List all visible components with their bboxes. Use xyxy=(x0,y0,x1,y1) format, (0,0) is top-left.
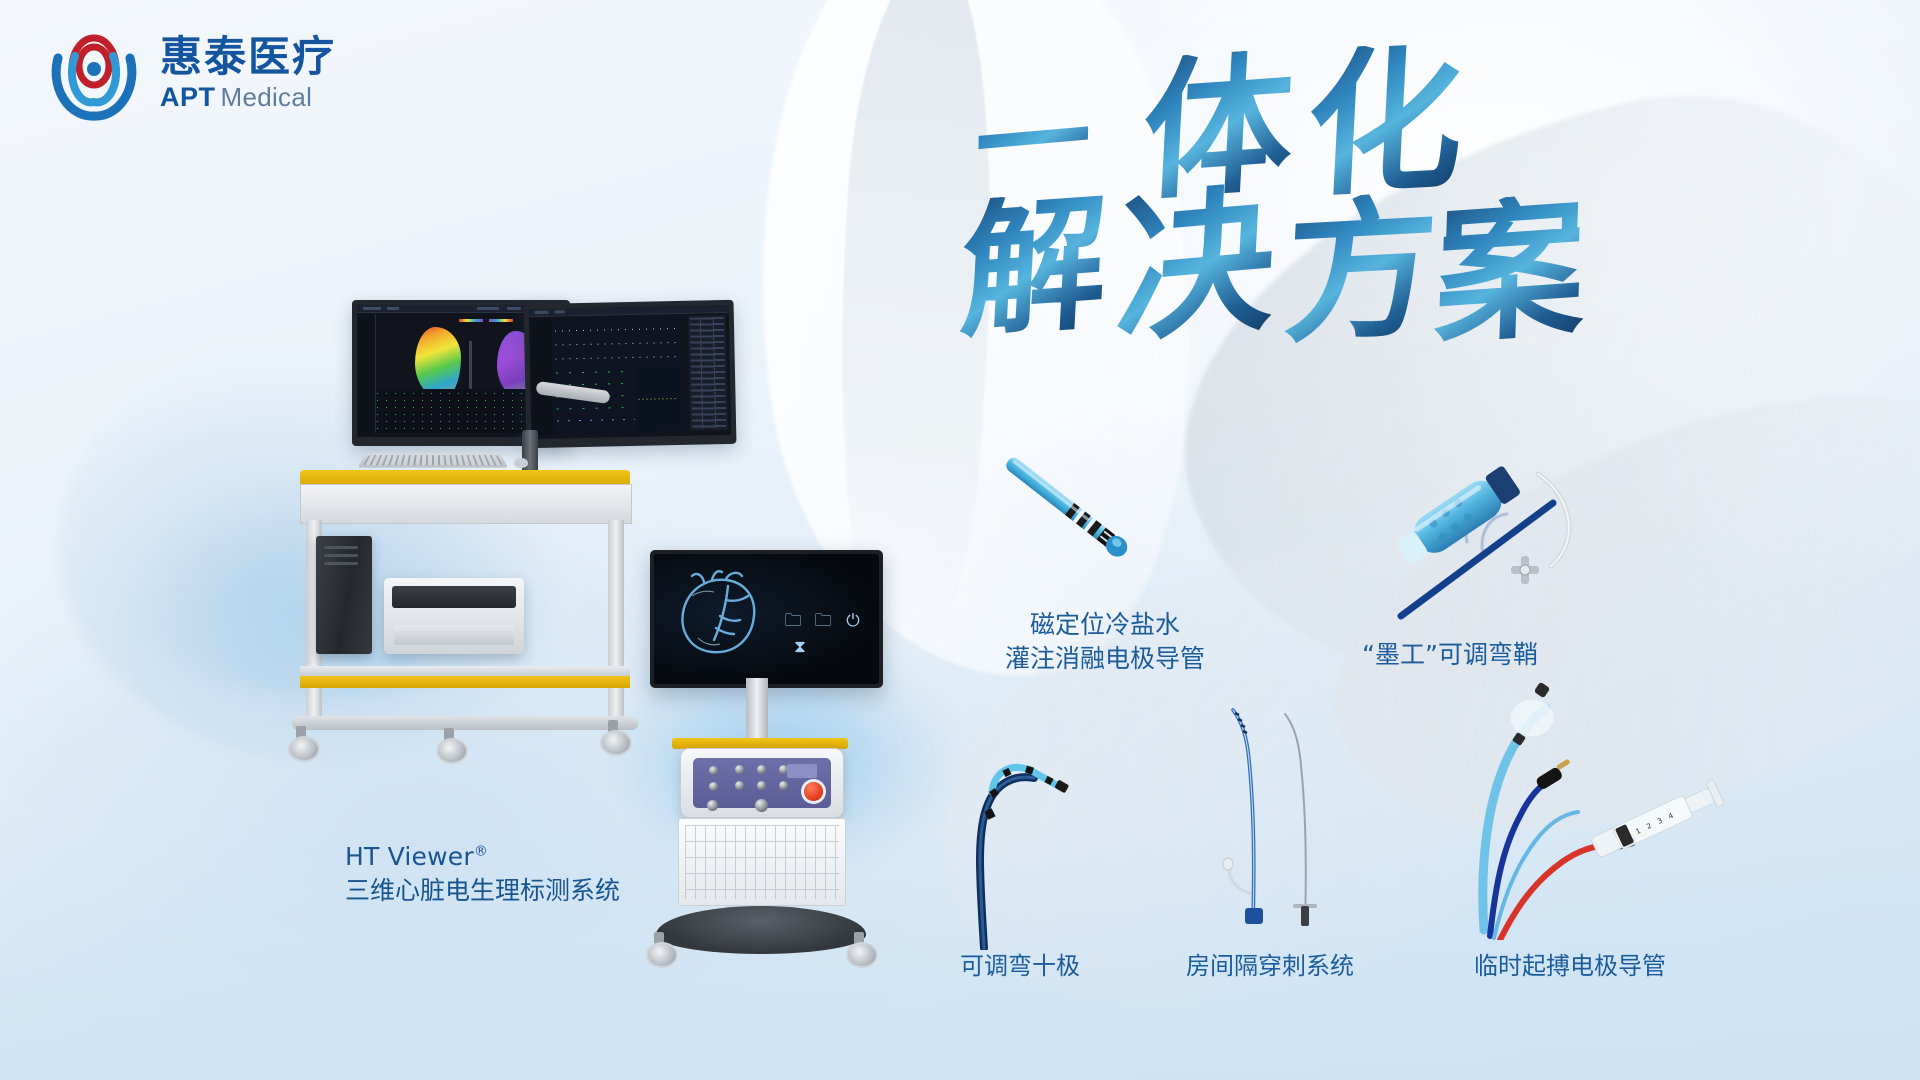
caption-line-2: 灌注消融电极导管 xyxy=(955,642,1255,676)
caption-line-1: 房间隔穿刺系统 xyxy=(1120,950,1420,982)
caster-wheel xyxy=(436,728,464,760)
cart-post-right xyxy=(608,520,624,720)
caption-line-1: 磁定位冷盐水 xyxy=(955,608,1255,642)
power-icon[interactable]: ⏻ xyxy=(842,612,864,629)
console-column xyxy=(746,678,768,740)
product-image-decapolar-catheter xyxy=(930,700,1110,950)
cart-base xyxy=(292,716,638,730)
console-screen: 🗀 🗀 ⏻ ⧗ xyxy=(654,554,879,684)
emergency-button[interactable] xyxy=(804,782,823,801)
apt-medical-logo-icon xyxy=(42,22,146,126)
printer xyxy=(384,578,524,654)
console-base xyxy=(656,906,866,954)
brand-logo[interactable]: 惠泰医疗 APT Medical xyxy=(42,22,336,126)
trademark-symbol: ® xyxy=(474,844,488,860)
product-image-pacing-catheter: 12 34 xyxy=(1470,650,1800,940)
measurement-table xyxy=(688,315,728,431)
computer-tower xyxy=(316,536,372,654)
right-monitor xyxy=(524,300,737,448)
connector-panel xyxy=(693,758,831,808)
poster-canvas: 惠泰医疗 APT Medical 一 体 化 解 决 方 案 xyxy=(0,0,1920,1080)
headline-char-5: 决 xyxy=(1113,179,1279,352)
caption-line-1: 临时起搏电极导管 xyxy=(1400,950,1740,982)
caster-wheel xyxy=(600,720,628,752)
cart-lower-shelf xyxy=(300,666,630,676)
cart-lower-trim xyxy=(300,676,630,688)
caption-ht-viewer: HT Viewer® 三维心脏电生理标测系统 xyxy=(345,840,765,907)
caption-pacing-catheter: 临时起搏电极导管 xyxy=(1400,950,1740,982)
connector-box xyxy=(680,748,844,818)
segmentation-icon[interactable]: ⧗ xyxy=(788,638,812,655)
brand-name-cn: 惠泰医疗 xyxy=(160,35,336,80)
cart-top-drawer xyxy=(300,484,632,524)
product-image-steerable-sheath xyxy=(1375,430,1665,630)
keyboard[interactable] xyxy=(358,453,509,467)
caption-ablation-catheter: 磁定位冷盐水 灌注消融电极导管 xyxy=(955,608,1255,675)
headline-char-4: 解 xyxy=(957,189,1110,346)
heart-illustration-icon xyxy=(668,566,772,662)
product-image-transseptal-system xyxy=(1195,680,1345,930)
caster-wheel xyxy=(646,932,674,964)
signal-label-column xyxy=(359,314,376,433)
ep-recording-screen xyxy=(529,305,732,439)
product-name-en: HT Viewer® xyxy=(345,840,765,874)
product-name-cn: 三维心脏电生理标测系统 xyxy=(345,874,765,908)
caption-transseptal-system: 房间隔穿刺系统 xyxy=(1120,950,1420,982)
brand-name-en-apt: APT xyxy=(160,82,216,113)
new-case-folder-icon[interactable]: 🗀 xyxy=(780,612,806,629)
product-image-ablation-catheter xyxy=(975,440,1175,590)
headline-char-7: 案 xyxy=(1433,191,1588,352)
brand-name-en-medical: Medical xyxy=(221,82,313,113)
caster-wheel xyxy=(288,726,316,758)
cart-chassis xyxy=(300,470,630,760)
headline-char-6: 方 xyxy=(1281,191,1441,352)
console-display: 🗀 🗀 ⏻ ⧗ xyxy=(650,550,883,688)
headline-calligraphy: 一 体 化 解 决 方 案 xyxy=(955,45,1675,375)
mouse[interactable] xyxy=(514,458,528,468)
ht-viewer-name: HT Viewer xyxy=(345,842,474,871)
open-case-folder-icon[interactable]: 🗀 xyxy=(810,612,836,629)
